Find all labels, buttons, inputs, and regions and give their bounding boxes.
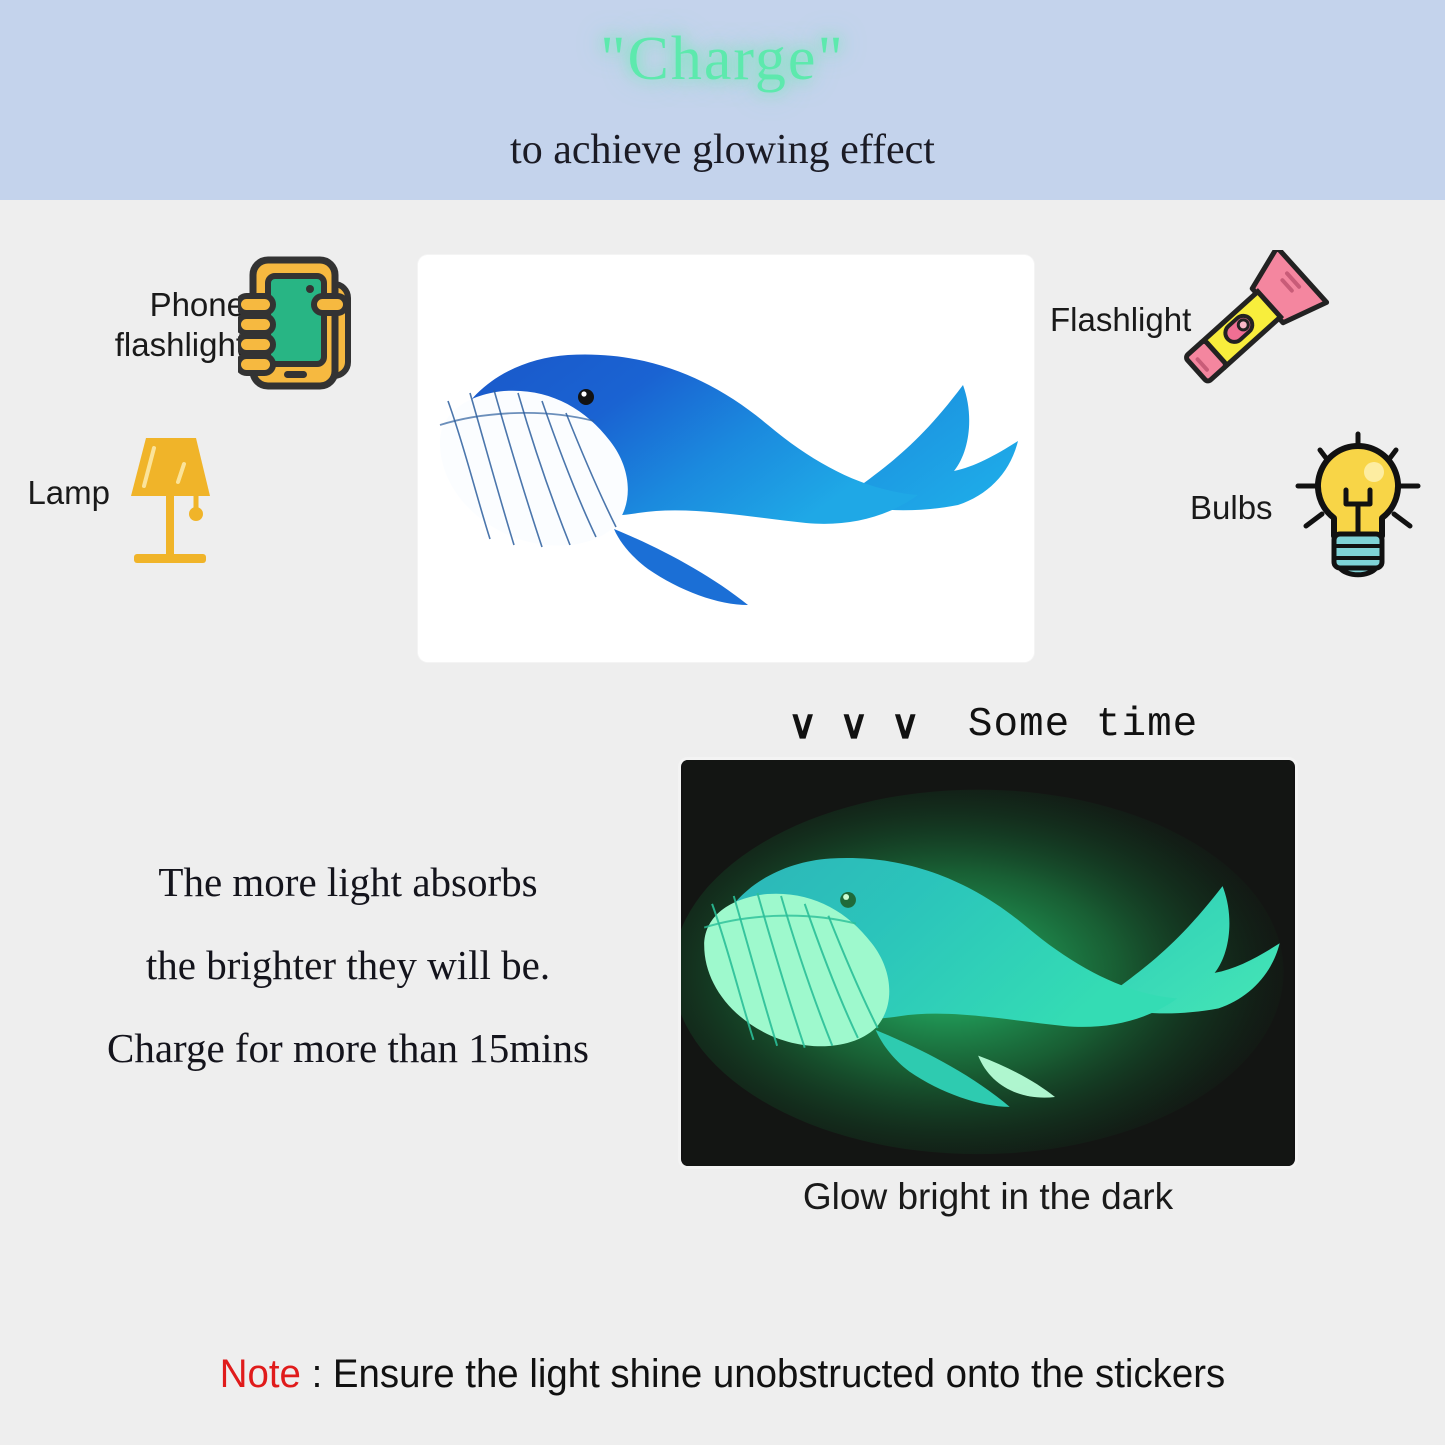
photo-whale-daylight xyxy=(418,255,1034,662)
note-separator: : xyxy=(301,1352,333,1396)
chevron-group: ∨ ∨ ∨ xyxy=(788,705,920,745)
flashlight-icon xyxy=(1178,250,1342,410)
chevron-down-icon: ∨ xyxy=(839,705,868,745)
page-subtitle: to achieve glowing effect xyxy=(0,126,1445,174)
label-lamp: Lamp xyxy=(10,473,110,513)
bulb-icon xyxy=(1282,428,1434,584)
transition-row: ∨ ∨ ∨ Some time xyxy=(760,695,1320,755)
glow-caption: Glow bright in the dark xyxy=(678,1176,1298,1218)
absorb-line-2: the brighter they will be. xyxy=(48,941,648,989)
chevron-down-icon: ∨ xyxy=(788,705,817,745)
page-title: "Charge" xyxy=(0,24,1445,95)
bottom-note: Note : Ensure the light shine unobstruct… xyxy=(29,1352,1416,1397)
label-phone-flashlight: Phone flashlight xyxy=(20,285,245,365)
note-text: Ensure the light shine unobstructed onto… xyxy=(333,1352,1225,1396)
phone-flashlight-icon xyxy=(238,248,356,398)
absorb-line-1: The more light absorbs xyxy=(48,858,648,906)
absorb-text-block: The more light absorbs the brighter they… xyxy=(48,858,648,1107)
some-time-label: Some time xyxy=(968,702,1198,748)
lamp-icon xyxy=(108,424,232,570)
note-word: Note xyxy=(220,1352,301,1396)
infographic-page: "Charge" to achieve glowing effect Phone… xyxy=(0,0,1445,1445)
absorb-line-3: Charge for more than 15mins xyxy=(48,1024,648,1072)
photo-whale-dark xyxy=(678,757,1298,1169)
chevron-down-icon: ∨ xyxy=(891,705,920,745)
